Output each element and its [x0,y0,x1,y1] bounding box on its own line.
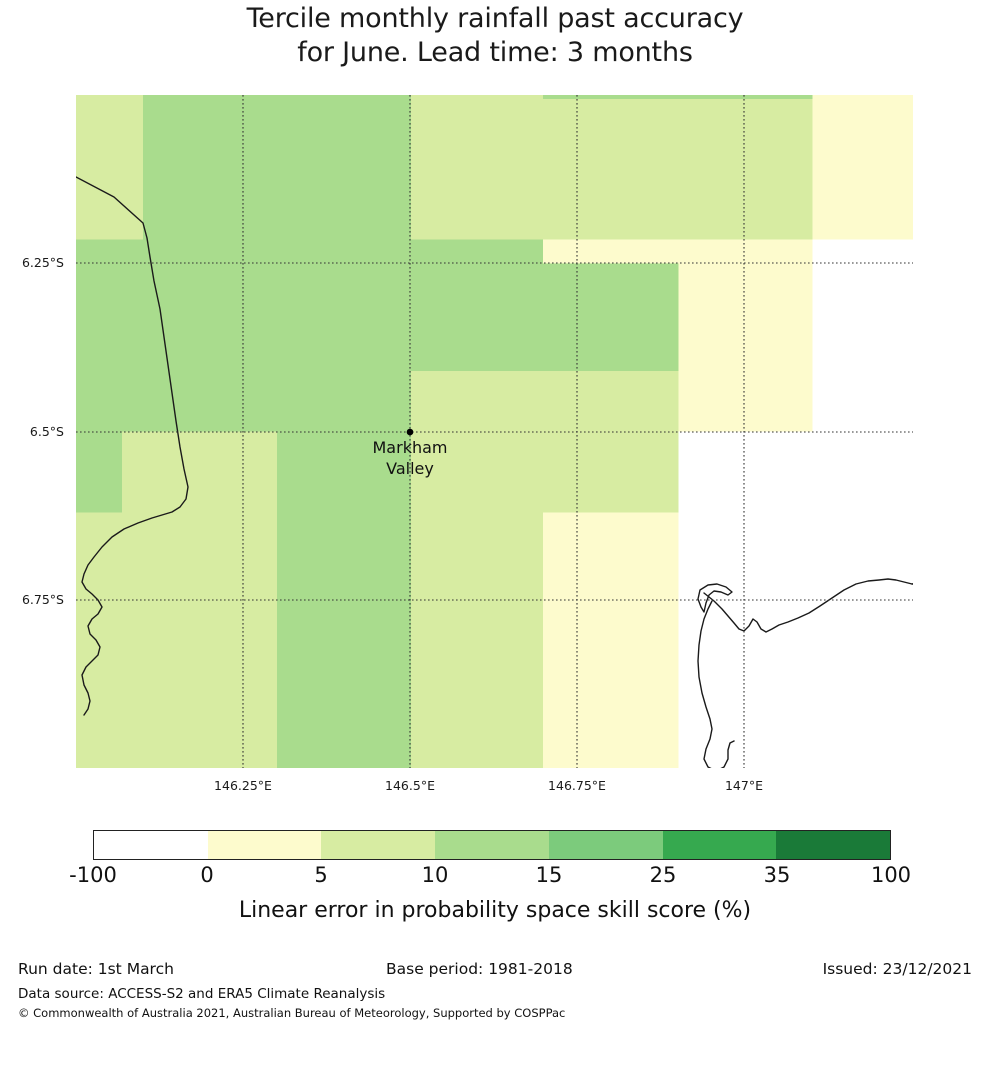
heatmap-cell [411,240,543,264]
colorbar-segment [321,831,435,859]
colorbar-tick-label: -100 [33,863,153,887]
y-tick-label-1: 6.5°S [4,424,64,439]
choropleth-map [76,95,913,768]
heatmap-cell [277,596,411,768]
heatmap-cell [76,596,277,768]
colorbar-segment [208,831,322,859]
heatmap-cell [411,95,543,240]
heatmap-cell [679,432,913,513]
x-tick-label-0: 146.25°E [183,778,303,793]
station-marker-label-line1: Markham [310,437,510,458]
map-plot-area[interactable]: 6.25°S 6.5°S 6.75°S 146.25°E 146.5°E 146… [76,95,913,768]
heatmap-cell [679,263,813,371]
footer-issued-date: Issued: 23/12/2021 [823,960,972,978]
heatmap-cell [813,263,913,371]
title-line-2: for June. Lead time: 3 months [0,36,990,70]
heatmap-cell [543,240,813,264]
colorbar-tick-label: 15 [489,863,609,887]
station-marker-label: Markham Valley [310,437,510,479]
heatmap-cell [122,512,277,596]
x-tick-label-3: 147°E [684,778,804,793]
footer-base-period: Base period: 1981-2018 [386,960,573,978]
y-tick-label-0: 6.25°S [4,255,64,270]
x-tick-label-1: 146.5°E [350,778,470,793]
heatmap-cell [411,512,543,596]
colorbar-segment [94,831,208,859]
heatmap-cell [411,596,543,768]
heatmap-cell [411,371,679,432]
colorbar-tick-label: 5 [261,863,381,887]
heatmap-cell [813,371,913,432]
colorbar-segment [776,831,890,859]
station-marker-dot[interactable] [407,429,414,436]
heatmap-cell [813,95,913,240]
heatmap-cell [813,240,913,264]
colorbar[interactable]: -1000510152535100 [93,830,891,860]
heatmap-cell [76,263,277,371]
station-marker-label-line2: Valley [310,458,510,479]
colorbar-title: Linear error in probability space skill … [0,898,990,923]
footer: Run date: 1st March Base period: 1981-20… [0,960,990,1030]
heatmap-cell [76,432,122,513]
heatmap-cell [543,95,813,99]
footer-copyright: © Commonwealth of Australia 2021, Austra… [18,1006,565,1020]
colorbar-segment [435,831,549,859]
heatmap-cell [277,371,411,432]
heatmap-cell [277,512,411,596]
heatmap-cell [543,512,679,596]
colorbar-tick-label: 0 [147,863,267,887]
heatmap-cell [277,263,411,371]
colorbar-segment [549,831,663,859]
heatmap-cell [543,99,813,240]
colorbar-tick-label: 35 [717,863,837,887]
heatmap-cell [679,371,813,432]
colorbar-tick-label: 25 [603,863,723,887]
heatmap-cell [76,95,143,240]
colorbar-tick-label: 10 [375,863,495,887]
footer-data-source: Data source: ACCESS-S2 and ERA5 Climate … [18,986,385,1002]
heatmap-cell [543,596,679,768]
footer-run-date: Run date: 1st March [18,960,174,978]
y-tick-label-2: 6.75°S [4,592,64,607]
colorbar-tick-label: 100 [831,863,951,887]
heatmap-cell [122,432,277,513]
heatmap-cell [143,95,411,240]
page-title: Tercile monthly rainfall past accuracy f… [0,0,990,70]
x-tick-label-2: 146.75°E [517,778,637,793]
footer-metadata-row: Run date: 1st March Base period: 1981-20… [18,960,972,982]
colorbar-segment [663,831,777,859]
heatmap-cell [679,596,913,768]
heatmap-cell [411,263,679,371]
colorbar-strip [93,830,891,860]
title-line-1: Tercile monthly rainfall past accuracy [0,0,990,36]
